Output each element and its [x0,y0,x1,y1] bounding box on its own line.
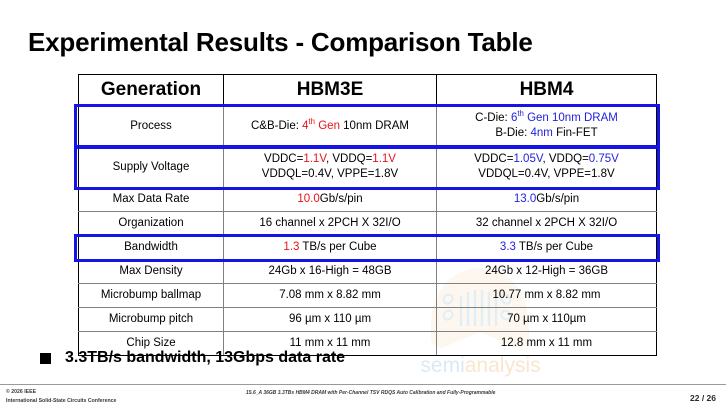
cell-text-segment: B-Die: [495,127,530,139]
table-body: ProcessC&B-Die: 4th Gen 10nm DRAMC-Die: … [79,106,657,356]
cell-text-segment: VDDC= [264,153,303,165]
page-title: Experimental Results - Comparison Table [28,27,533,58]
cell-text-segment: 10.0 [297,193,319,205]
cell-hbm4: 32 channel x 2PCH X 32I/O [437,212,657,236]
cell-text-segment: TB/s per Cube [516,241,593,253]
cell-text-segment: 11 mm x 11 mm [290,337,371,349]
watermark-text-semi: semi [420,354,464,377]
cell-line: 1.3 TB/s per Cube [227,240,433,255]
square-bullet-icon [40,353,51,364]
cell-line: 3.3 TB/s per Cube [440,240,653,255]
cell-line: 7.08 mm x 8.82 mm [227,288,433,303]
cell-line: VDDQL=0.4V, VPPE=1.8V [440,167,653,182]
cell-text-segment: 32 channel x 2PCH X 32I/O [476,217,617,229]
row-label: Max Data Rate [79,188,224,212]
cell-hbm3e: VDDC=1.1V, VDDQ=1.1VVDDQL=0.4V, VPPE=1.8… [224,147,437,188]
footer-copyright-line1: © 2026 IEEE [6,388,116,397]
cell-text-segment: 70 µm x 110µm [507,313,586,325]
cell-hbm4: 10.77 mm x 8.82 mm [437,284,657,308]
cell-text-segment: 10.77 mm x 8.82 mm [492,289,600,301]
cell-hbm4: C-Die: 6th Gen 10nm DRAMB-Die: 4nm Fin-F… [437,106,657,147]
row-label: Max Density [79,260,224,284]
cell-line: VDDC=1.05V, VDDQ=0.75V [440,152,653,167]
cell-text-segment: Fin-FET [553,127,598,139]
cell-line: VDDQL=0.4V, VPPE=1.8V [227,167,433,182]
table-row: Microbump pitch96 µm x 110 µm70 µm x 110… [79,308,657,332]
summary-bullet-text: 3.3TB/s bandwidth, 13Gbps data rate [65,349,345,367]
cell-text-segment: 13.0 [514,193,536,205]
table-row: Max Data Rate10.0Gb/s/pin13.0Gb/s/pin [79,188,657,212]
cell-line: 10.77 mm x 8.82 mm [440,288,653,303]
cell-text-segment: 7.08 mm x 8.82 mm [279,289,381,301]
watermark-text: semianalysis [393,354,568,378]
cell-line: C-Die: 6th Gen 10nm DRAM [440,111,653,126]
table-header-row: Generation HBM3E HBM4 [79,75,657,106]
cell-text-segment: 1.05V [513,153,542,165]
table-row: Microbump ballmap7.08 mm x 8.82 mm10.77 … [79,284,657,308]
cell-line: 32 channel x 2PCH X 32I/O [440,216,653,231]
cell-text-segment: 0.75V [589,153,619,165]
cell-hbm4: 24Gb x 12-High = 36GB [437,260,657,284]
cell-hbm3e: 96 µm x 110 µm [224,308,437,332]
table-row: ProcessC&B-Die: 4th Gen 10nm DRAMC-Die: … [79,106,657,147]
cell-hbm4: 13.0Gb/s/pin [437,188,657,212]
table-header-hbm3e: HBM3E [224,75,437,106]
cell-text-segment: Gen [315,120,340,132]
cell-text-segment: , VDDQ= [542,153,588,165]
table-row: Bandwidth1.3 TB/s per Cube3.3 TB/s per C… [79,236,657,260]
table-row: Max Density24Gb x 16-High = 48GB24Gb x 1… [79,260,657,284]
cell-text-segment: , VDDQ= [326,153,372,165]
cell-text-segment: VDDQL=0.4V, VPPE=1.8V [262,168,398,180]
row-label: Process [79,106,224,147]
cell-hbm3e: 7.08 mm x 8.82 mm [224,284,437,308]
cell-text-segment: C&B-Die: [251,120,302,132]
cell-text-segment: Gen 10nm DRAM [524,112,618,124]
table-header-hbm4: HBM4 [437,75,657,106]
table-header-generation: Generation [79,75,224,106]
footer-copyright: © 2026 IEEE International Solid-State Ci… [6,388,116,405]
cell-text-segment: TB/s per Cube [299,241,376,253]
row-label: Microbump pitch [79,308,224,332]
cell-hbm3e: 10.0Gb/s/pin [224,188,437,212]
cell-text-segment: C-Die: [475,112,511,124]
cell-hbm3e: 16 channel x 2PCH X 32I/O [224,212,437,236]
footer-copyright-line2: International Solid-State Circuits Confe… [6,397,116,406]
comparison-table-container: Generation HBM3E HBM4 ProcessC&B-Die: 4t… [78,74,656,356]
cell-hbm4: 12.8 mm x 11 mm [437,332,657,356]
footer-divider [0,384,726,385]
cell-text-segment: 12.8 mm x 11 mm [501,337,592,349]
cell-text-segment: VDDQL=0.4V, VPPE=1.8V [478,168,614,180]
cell-text-segment: 4nm [531,127,553,139]
cell-text-segment: 10nm DRAM [340,120,409,132]
row-label: Organization [79,212,224,236]
cell-text-segment: 96 µm x 110 µm [289,313,371,325]
cell-text-segment: 1.1V [303,153,326,165]
footer-paper-title: 15.6_A 36GB 3.3TBs HBM4 DRAM with Per-Ch… [246,390,495,396]
watermark-text-analysis: analysis [465,354,541,377]
cell-text-segment: 1.3 [283,241,299,253]
table-row: Organization16 channel x 2PCH X 32I/O32 … [79,212,657,236]
cell-hbm3e: 24Gb x 16-High = 48GB [224,260,437,284]
cell-hbm3e: C&B-Die: 4th Gen 10nm DRAM [224,106,437,147]
row-label: Microbump ballmap [79,284,224,308]
cell-line: 16 channel x 2PCH X 32I/O [227,216,433,231]
cell-line: 24Gb x 16-High = 48GB [227,264,433,279]
cell-line: VDDC=1.1V, VDDQ=1.1V [227,152,433,167]
row-label: Supply Voltage [79,147,224,188]
footer: © 2026 IEEE International Solid-State Ci… [0,387,726,408]
cell-line: 70 µm x 110µm [440,312,653,327]
cell-hbm4: 3.3 TB/s per Cube [437,236,657,260]
cell-line: 24Gb x 12-High = 36GB [440,264,653,279]
cell-line: C&B-Die: 4th Gen 10nm DRAM [227,119,433,134]
row-label: Bandwidth [79,236,224,260]
footer-page-number: 22 / 26 [690,393,716,403]
cell-hbm4: VDDC=1.05V, VDDQ=0.75VVDDQL=0.4V, VPPE=1… [437,147,657,188]
cell-text-segment: 24Gb x 16-High = 48GB [268,265,391,277]
cell-hbm4: 70 µm x 110µm [437,308,657,332]
cell-text-segment: 1.1V [372,153,396,165]
cell-text-segment: VDDC= [474,153,513,165]
cell-line: B-Die: 4nm Fin-FET [440,126,653,141]
cell-text-segment: 24Gb x 12-High = 36GB [485,265,608,277]
cell-hbm3e: 1.3 TB/s per Cube [224,236,437,260]
comparison-table: Generation HBM3E HBM4 ProcessC&B-Die: 4t… [78,74,657,356]
cell-text-segment: Gb/s/pin [320,193,363,205]
cell-text-segment: Gb/s/pin [536,193,579,205]
cell-line: 96 µm x 110 µm [227,312,433,327]
summary-bullet: 3.3TB/s bandwidth, 13Gbps data rate [40,349,345,367]
cell-line: 13.0Gb/s/pin [440,192,653,207]
cell-line: 12.8 mm x 11 mm [440,336,653,351]
cell-text-segment: 16 channel x 2PCH X 32I/O [259,217,400,229]
cell-line: 10.0Gb/s/pin [227,192,433,207]
table-row: Supply VoltageVDDC=1.1V, VDDQ=1.1VVDDQL=… [79,147,657,188]
cell-text-segment: 3.3 [500,241,516,253]
